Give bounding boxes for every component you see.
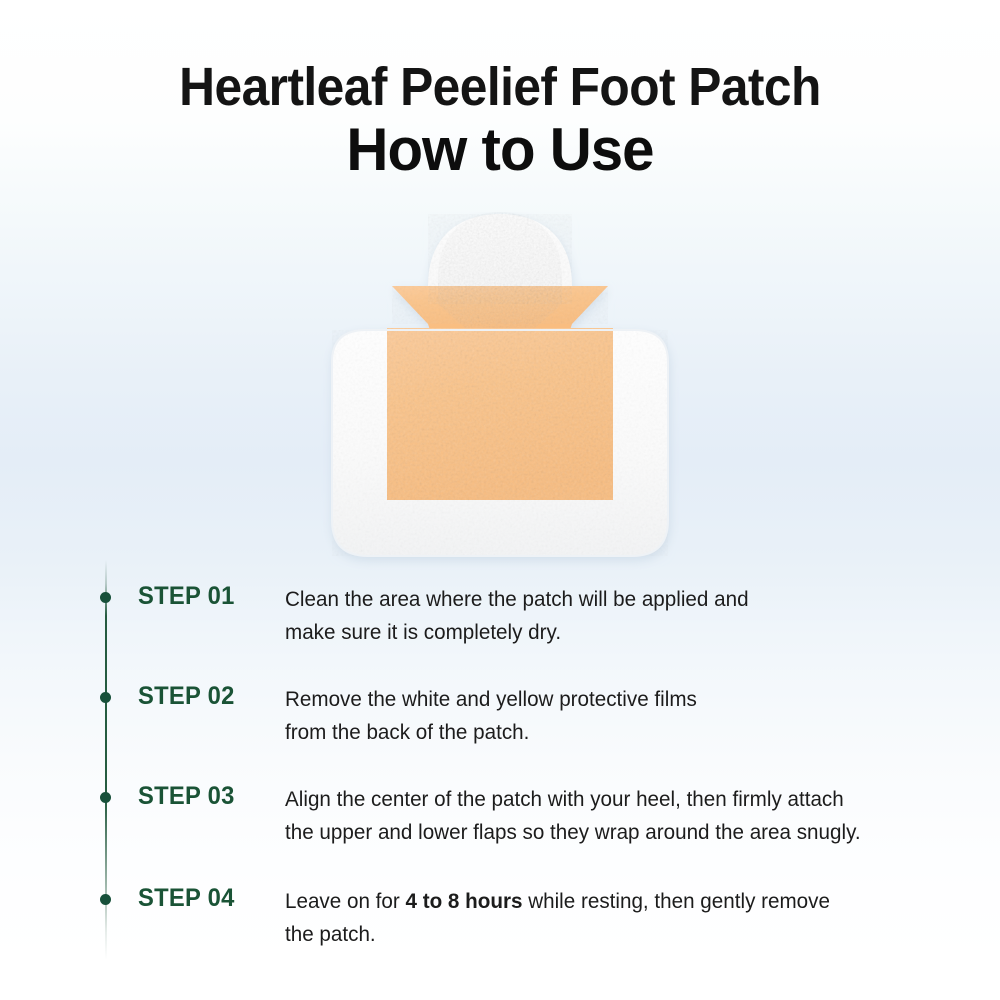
step-text-02: Remove the white and yellow protective f… — [285, 683, 919, 749]
step-text-04: Leave on for 4 to 8 hours while resting,… — [285, 885, 919, 951]
step-text-04-prefix: Leave on for — [285, 889, 405, 913]
step-text-04-line-1: Leave on for 4 to 8 hours while resting,… — [285, 885, 919, 918]
step-label-02: STEP 02 — [138, 684, 235, 709]
step-text-03: Align the center of the patch with your … — [285, 783, 919, 849]
step-label-01: STEP 01 — [138, 584, 235, 609]
page-root: Heartleaf Peelief Foot Patch How to Use — [0, 0, 1000, 1000]
step-text-04-line-2: the patch. — [285, 918, 919, 951]
step-text-04-duration: 4 to 8 hours — [405, 889, 522, 913]
timeline-dot-icon-04 — [100, 894, 111, 905]
timeline-dot-icon-03 — [100, 792, 111, 803]
timeline-dot-icon-02 — [100, 692, 111, 703]
steps-list: STEP 01 Clean the area where the patch w… — [0, 0, 1000, 1000]
step-label-03: STEP 03 — [138, 784, 235, 809]
step-text-01: Clean the area where the patch will be a… — [285, 583, 919, 649]
step-text-03-line-1: Align the center of the patch with your … — [285, 783, 919, 816]
step-text-01-line-2: make sure it is completely dry. — [285, 616, 919, 649]
step-text-04-suffix: while resting, then gently remove — [522, 889, 829, 913]
step-text-03-line-2: the upper and lower flaps so they wrap a… — [285, 816, 919, 849]
step-label-04: STEP 04 — [138, 886, 235, 911]
timeline-dot-icon-01 — [100, 592, 111, 603]
step-text-01-line-1: Clean the area where the patch will be a… — [285, 583, 919, 616]
step-text-02-line-1: Remove the white and yellow protective f… — [285, 683, 919, 716]
step-text-02-line-2: from the back of the patch. — [285, 716, 919, 749]
